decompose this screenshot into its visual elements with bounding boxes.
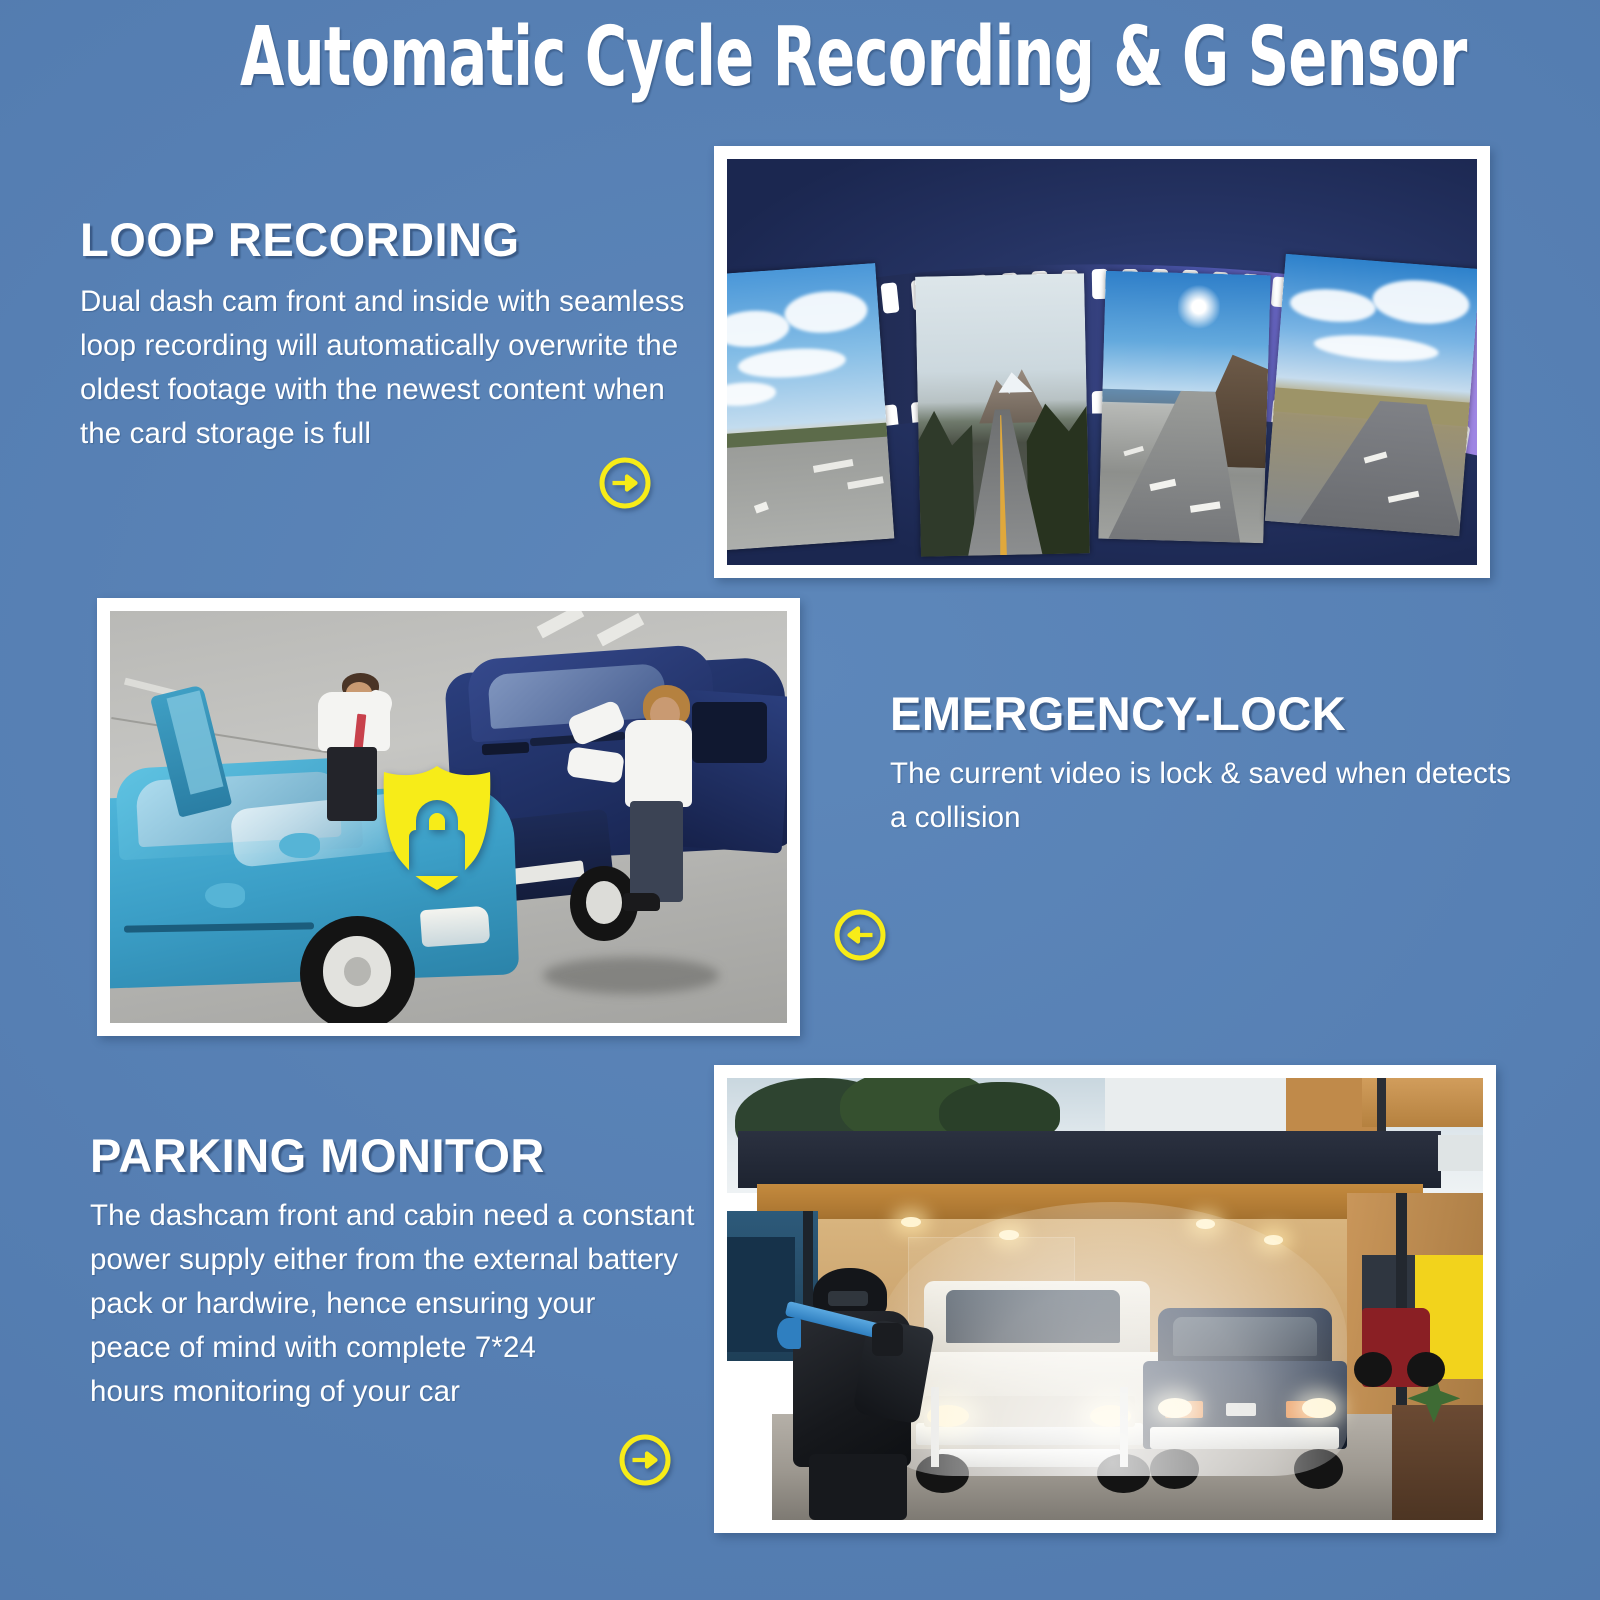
shield-lock-icon: [376, 764, 498, 892]
film-frame-sunny-curve: [1098, 270, 1270, 542]
page-title: Automatic Cycle Recording & G Sensor: [240, 6, 1360, 110]
section-body-emergency-lock: The current video is lock & saved when d…: [890, 752, 1560, 840]
section-body-parking-monitor: The dashcam front and cabin need a const…: [90, 1194, 730, 1414]
body-line: peace of mind with complete 7*24: [90, 1326, 730, 1370]
body-line: pack or hardwire, hence ensuring your: [90, 1282, 730, 1326]
body-line: Dual dash cam front and inside with seam…: [80, 280, 720, 324]
protection-dome-overlay: [878, 1202, 1347, 1476]
filmstrip-road-photos-image: [714, 146, 1490, 578]
body-line: power supply either from the external ba…: [90, 1238, 730, 1282]
body-line: The current video is lock & saved when d…: [890, 752, 1560, 796]
infographic-page: Automatic Cycle Recording & G Sensor LOO…: [0, 0, 1600, 1600]
body-line: a collision: [890, 796, 1560, 840]
body-line: The dashcam front and cabin need a const…: [90, 1194, 730, 1238]
body-line: loop recording will automatically overwr…: [80, 324, 720, 368]
section-loop-recording: LOOP RECORDING Dual dash cam front and i…: [80, 212, 720, 456]
arrow-right-circle-icon[interactable]: [597, 455, 653, 511]
parking-monitor-carport-image: [714, 1065, 1496, 1533]
section-parking-monitor: PARKING MONITOR The dashcam front and ca…: [90, 1128, 730, 1414]
body-line: the card storage is full: [80, 412, 720, 456]
section-heading-parking-monitor: PARKING MONITOR: [90, 1128, 730, 1184]
film-frame-mountain-road: [915, 273, 1090, 557]
film-frame-highway: [727, 263, 894, 551]
section-heading-loop-recording: LOOP RECORDING: [80, 212, 720, 268]
film-frame-desert-highway: [1264, 253, 1477, 535]
section-body-loop-recording: Dual dash cam front and inside with seam…: [80, 280, 720, 456]
body-line: hours monitoring of your car: [90, 1370, 730, 1414]
section-heading-emergency-lock: EMERGENCY-LOCK: [890, 686, 1560, 742]
arrow-left-circle-icon[interactable]: [832, 907, 888, 963]
section-emergency-lock: EMERGENCY-LOCK The current video is lock…: [890, 686, 1560, 840]
body-line: oldest footage with the newest content w…: [80, 368, 720, 412]
arrow-right-circle-icon[interactable]: [617, 1432, 673, 1488]
